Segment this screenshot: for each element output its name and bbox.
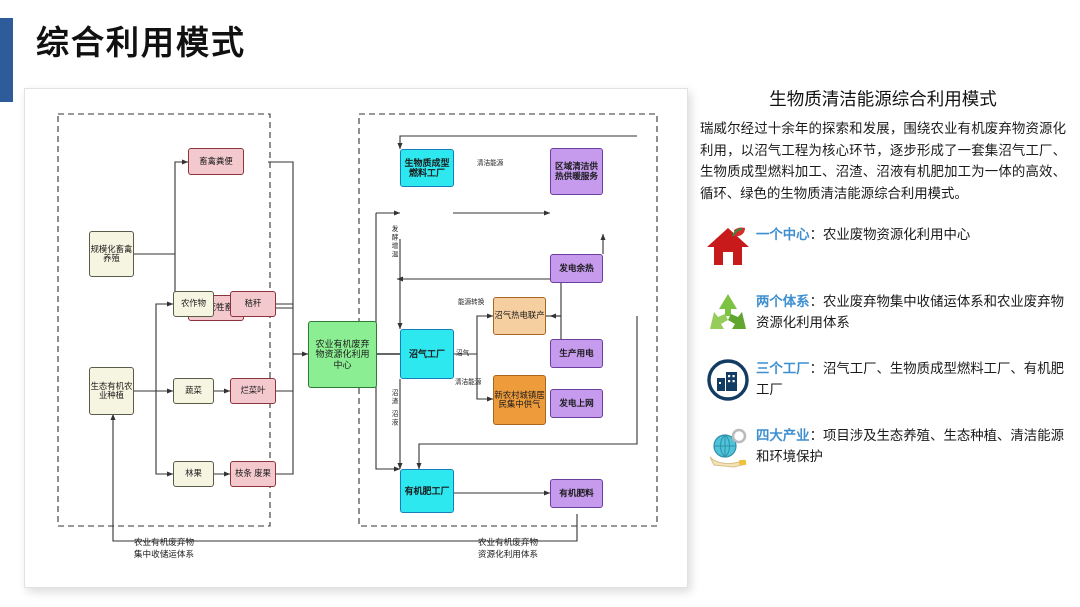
caption-right-system: 农业有机废弃物 资源化利用体系 <box>433 536 583 561</box>
node-straw: 秸秆 <box>230 291 276 317</box>
node-manure: 畜禽粪便 <box>188 148 244 175</box>
page-title: 综合利用模式 <box>36 26 246 59</box>
flowchart-card: 规模化畜禽养殖 生态有机农业种植 畜禽粪便 病死牲畜 农作物 秸秆 蔬菜 烂菜叶… <box>24 88 688 588</box>
node-livestock: 规模化畜禽养殖 <box>89 231 134 277</box>
edge-label-biogas-gas: 沼气 <box>456 347 469 357</box>
bullet-one-center: 一个中心：农业废物资源化利用中心 <box>700 220 1066 272</box>
panel-title: 生物质清洁能源综合利用模式 <box>700 86 1066 111</box>
node-rotten-leaf: 烂菜叶 <box>230 378 276 404</box>
bullet-key-one-center: 一个中心 <box>756 227 810 242</box>
node-grid-power: 发电上网 <box>550 389 603 418</box>
bullet-key-two-systems: 两个体系 <box>756 294 810 309</box>
bullet-key-three-factories: 三个工厂 <box>756 361 810 376</box>
node-branch-waste: 枝条 废果 <box>230 461 276 487</box>
node-waste-heat: 发电余热 <box>550 254 603 283</box>
node-vegetable: 蔬菜 <box>173 378 214 404</box>
factory-icon <box>700 354 756 406</box>
node-biogas-chp: 沼气热电联产 <box>493 297 546 335</box>
node-village-gas-supply: 新农村城镇居民集中供气 <box>493 375 546 425</box>
title-accent-bar <box>0 18 13 102</box>
node-resource-center: 农业有机废弃物资源化利用中心 <box>308 321 377 388</box>
bullet-value-one-center: 农业废物资源化利用中心 <box>823 227 970 242</box>
bullet-text-two-systems: 两个体系：农业废弃物集中收储运体系和农业废弃物资源化利用体系 <box>756 287 1066 334</box>
bullet-text-three-factories: 三个工厂：沼气工厂、生物质成型燃料工厂、有机肥工厂 <box>756 354 1066 401</box>
node-organic-fertilizer-factory: 有机肥工厂 <box>400 469 454 513</box>
bullet-text-four-industries: 四大产业：项目涉及生态养殖、生态种植、清洁能源和环境保护 <box>756 421 1066 468</box>
edge-label-clean-energy-mid: 清洁能源 <box>455 376 481 386</box>
bullet-sep-0: ： <box>810 227 823 242</box>
bullet-sep-1: ： <box>810 294 823 309</box>
caption-left-system: 农业有机废弃物 集中收储运体系 <box>89 536 239 561</box>
house-icon <box>700 220 756 272</box>
bullet-three-factories: 三个工厂：沼气工厂、生物质成型燃料工厂、有机肥工厂 <box>700 354 1066 406</box>
bullet-four-industries: 四大产业：项目涉及生态养殖、生态种植、清洁能源和环境保护 <box>700 421 1066 473</box>
bullet-key-four-industries: 四大产业 <box>756 428 810 443</box>
info-panel: 生物质清洁能源综合利用模式 瑞威尔经过十余年的探索和发展，围绕农业有机废弃物资源… <box>700 86 1066 473</box>
node-organic-fertilizer-product: 有机肥料 <box>550 479 603 508</box>
bullet-two-systems: 两个体系：农业废弃物集中收储运体系和农业废弃物资源化利用体系 <box>700 287 1066 339</box>
node-pellet-fuel-factory: 生物质成型燃料工厂 <box>400 149 454 187</box>
node-district-heating: 区域清洁供热供暖服务 <box>550 148 603 195</box>
flowchart-canvas: 规模化畜禽养殖 生态有机农业种植 畜禽粪便 病死牲畜 农作物 秸秆 蔬菜 烂菜叶… <box>25 89 687 587</box>
node-planting: 生态有机农业种植 <box>89 367 134 415</box>
panel-description: 瑞威尔经过十余年的探索和发展，围绕农业有机废弃物资源化利用，以沼气工程为核心环节… <box>700 118 1066 205</box>
edge-label-ferment: 发酵增温 <box>388 225 398 293</box>
bullet-sep-3: ： <box>810 428 823 443</box>
node-biogas-factory: 沼气工厂 <box>400 329 454 379</box>
node-forest-fruit: 林果 <box>173 461 214 487</box>
node-crops: 农作物 <box>173 291 214 317</box>
edge-label-digestate: 沼渣 沼液 <box>388 389 398 455</box>
node-production-power: 生产用电 <box>550 339 603 368</box>
edge-label-energy-convert: 能源转换 <box>458 296 484 306</box>
edge-label-clean-energy-top: 清洁能源 <box>477 157 503 167</box>
globe-gear-icon <box>700 421 756 473</box>
bullet-sep-2: ： <box>810 361 823 376</box>
bullet-text-one-center: 一个中心：农业废物资源化利用中心 <box>756 220 970 245</box>
recycle-icon <box>700 287 756 339</box>
